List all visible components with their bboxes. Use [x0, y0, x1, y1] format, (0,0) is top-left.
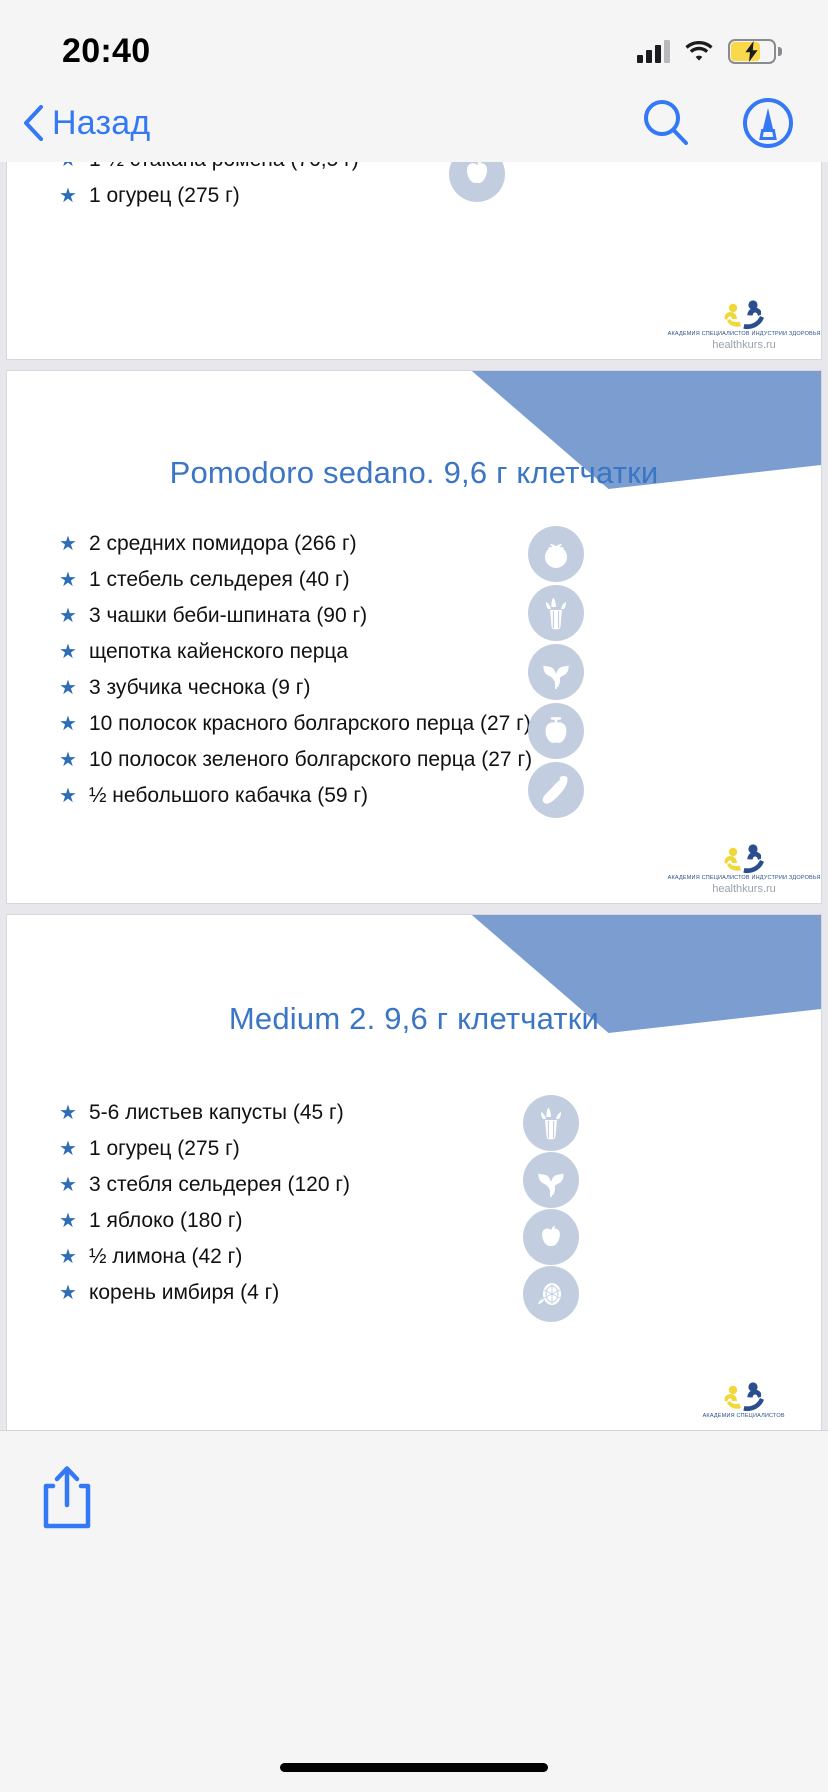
slide-title: Medium 2. 9,6 г клетчатки — [7, 1001, 821, 1037]
markup-pen-icon[interactable] — [742, 97, 794, 149]
star-bullet-icon: ★ — [59, 1275, 77, 1311]
star-bullet-icon: ★ — [59, 598, 77, 634]
back-button-label: Назад — [52, 104, 150, 143]
watermark-site-text: healthkurs.ru — [712, 883, 776, 895]
healthkurs-logo-icon — [721, 840, 767, 874]
spinach-icon — [528, 644, 584, 700]
ingredient-text: 10 полосок зеленого болгарского перца (2… — [89, 742, 532, 778]
watermark-org-text: АКАДЕМИЯ СПЕЦИАЛИСТОВ ИНДУСТРИИ ЗДОРОВЬЯ — [668, 331, 821, 337]
ingredient-text: 5-6 листьев капусты (45 г) — [89, 1095, 344, 1131]
star-bullet-icon: ★ — [59, 1239, 77, 1275]
nav-actions — [640, 97, 794, 149]
star-bullet-icon: ★ — [59, 1131, 77, 1167]
list-item: ★ 5-6 листьев капусты (45 г) — [59, 1095, 350, 1131]
star-bullet-icon: ★ — [59, 178, 77, 214]
status-bar: 20:40 — [0, 0, 828, 84]
star-bullet-icon: ★ — [59, 562, 77, 598]
back-button[interactable]: Назад — [22, 104, 150, 143]
ingredient-text: 3 стебля сельдерея (120 г) — [89, 1167, 350, 1203]
list-item: ★ 1 ½ стакана ромена (76,5 г) — [59, 162, 359, 178]
watermark-logo: АКАДЕМИЯ СПЕЦИАЛИСТОВ ИНДУСТРИИ ЗДОРОВЬЯ… — [689, 296, 799, 351]
watermark-logo: АКАДЕМИЯ СПЕЦИАЛИСТОВ ИНДУСТРИИ ЗДОРОВЬЯ… — [689, 840, 799, 895]
apple-icon — [523, 1209, 579, 1265]
list-item: ★ 1 огурец (275 г) — [59, 1131, 350, 1167]
list-item: ★ щепотка кайенского перца — [59, 634, 532, 670]
ingredient-text: щепотка кайенского перца — [89, 634, 348, 670]
ingredient-list: ★ 5-6 листьев капусты (45 г) ★ 1 огурец … — [59, 1095, 350, 1311]
healthkurs-logo-icon — [721, 296, 767, 330]
list-item: ★ 1 стебель сельдерея (40 г) — [59, 562, 532, 598]
document-scroll-view[interactable]: ★ 1 ½ стакана ромена (76,5 г) ★ 1 огурец… — [0, 162, 828, 1430]
slide-card[interactable]: Pomodoro sedano. 9,6 г клетчатки ★ 2 сре… — [6, 370, 822, 904]
apple-icon — [449, 162, 505, 202]
ingredient-text: 3 чашки беби-шпината (90 г) — [89, 598, 367, 634]
ingredient-list: ★ 2 средних помидора (266 г) ★ 1 стебель… — [59, 526, 532, 814]
slide-card[interactable]: ★ 1 ½ стакана ромена (76,5 г) ★ 1 огурец… — [6, 162, 822, 360]
status-bar-time: 20:40 — [62, 32, 150, 71]
star-bullet-icon: ★ — [59, 742, 77, 778]
star-bullet-icon: ★ — [59, 634, 77, 670]
ingredient-text: 1 огурец (275 г) — [89, 1131, 240, 1167]
list-item: ★ 3 стебля сельдерея (120 г) — [59, 1167, 350, 1203]
wifi-icon — [684, 39, 714, 63]
ingredient-text: 1 огурец (275 г) — [89, 178, 240, 214]
zucchini-icon — [528, 762, 584, 818]
ingredient-text: 10 полосок красного болгарского перца (2… — [89, 706, 531, 742]
ingredient-text: 1 стебель сельдерея (40 г) — [89, 562, 350, 598]
watermark-logo: АКАДЕМИЯ СПЕЦИАЛИСТОВ — [689, 1378, 799, 1421]
slide-card[interactable]: Medium 2. 9,6 г клетчатки ★ 5-6 листьев … — [6, 914, 822, 1430]
ingredient-text: 1 ½ стакана ромена (76,5 г) — [89, 162, 359, 178]
star-bullet-icon: ★ — [59, 706, 77, 742]
bottom-toolbar — [0, 1430, 828, 1792]
ingredient-icon-column — [523, 1095, 579, 1322]
ingredient-text: 3 зубчика чеснока (9 г) — [89, 670, 311, 706]
list-item: ★ 1 яблоко (180 г) — [59, 1203, 350, 1239]
watermark-site-text: healthkurs.ru — [712, 339, 776, 351]
list-item: ★ 2 средних помидора (266 г) — [59, 526, 532, 562]
home-indicator — [280, 1763, 548, 1772]
ingredient-text: ½ небольшого кабачка (59 г) — [89, 778, 368, 814]
cellular-signal-icon — [637, 39, 670, 63]
list-item: ★ 10 полосок красного болгарского перца … — [59, 706, 532, 742]
spinach-icon — [523, 1152, 579, 1208]
list-item: ★ ½ лимона (42 г) — [59, 1239, 350, 1275]
star-bullet-icon: ★ — [59, 526, 77, 562]
star-bullet-icon: ★ — [59, 1167, 77, 1203]
search-icon[interactable] — [640, 97, 692, 149]
watermark-org-text: АКАДЕМИЯ СПЕЦИАЛИСТОВ ИНДУСТРИИ ЗДОРОВЬЯ — [668, 875, 821, 881]
slide-title: Pomodoro sedano. 9,6 г клетчатки — [7, 455, 821, 491]
battery-charging-icon — [728, 39, 776, 64]
tomato-icon — [528, 526, 584, 582]
navigation-bar: Назад — [0, 84, 828, 162]
star-bullet-icon: ★ — [59, 1203, 77, 1239]
list-item: ★ 3 зубчика чеснока (9 г) — [59, 670, 532, 706]
ingredient-list: ★ 1 ½ стакана ромена (76,5 г) ★ 1 огурец… — [59, 162, 359, 214]
chevron-left-icon — [22, 105, 44, 141]
list-item: ★ корень имбиря (4 г) — [59, 1275, 350, 1311]
ingredient-icon-column — [449, 162, 505, 202]
status-bar-indicators — [637, 39, 776, 64]
bell-pepper-icon — [528, 703, 584, 759]
ingredient-text: 2 средних помидора (266 г) — [89, 526, 357, 562]
ingredient-icon-column — [528, 526, 584, 818]
ingredient-text: 1 яблоко (180 г) — [89, 1203, 243, 1239]
star-bullet-icon: ★ — [59, 162, 77, 178]
star-bullet-icon: ★ — [59, 670, 77, 706]
list-item: ★ 1 огурец (275 г) — [59, 178, 359, 214]
ingredient-text: корень имбиря (4 г) — [89, 1275, 279, 1311]
ginger-icon — [523, 1266, 579, 1322]
healthkurs-logo-icon — [721, 1378, 767, 1412]
watermark-org-text: АКАДЕМИЯ СПЕЦИАЛИСТОВ — [703, 1413, 785, 1419]
celery-icon — [528, 585, 584, 641]
list-item: ★ 10 полосок зеленого болгарского перца … — [59, 742, 532, 778]
list-item: ★ 3 чашки беби-шпината (90 г) — [59, 598, 532, 634]
star-bullet-icon: ★ — [59, 778, 77, 814]
list-item: ★ ½ небольшого кабачка (59 г) — [59, 778, 532, 814]
celery-icon — [523, 1095, 579, 1151]
star-bullet-icon: ★ — [59, 1095, 77, 1131]
ingredient-text: ½ лимона (42 г) — [89, 1239, 242, 1275]
share-up-icon[interactable] — [36, 1463, 98, 1533]
